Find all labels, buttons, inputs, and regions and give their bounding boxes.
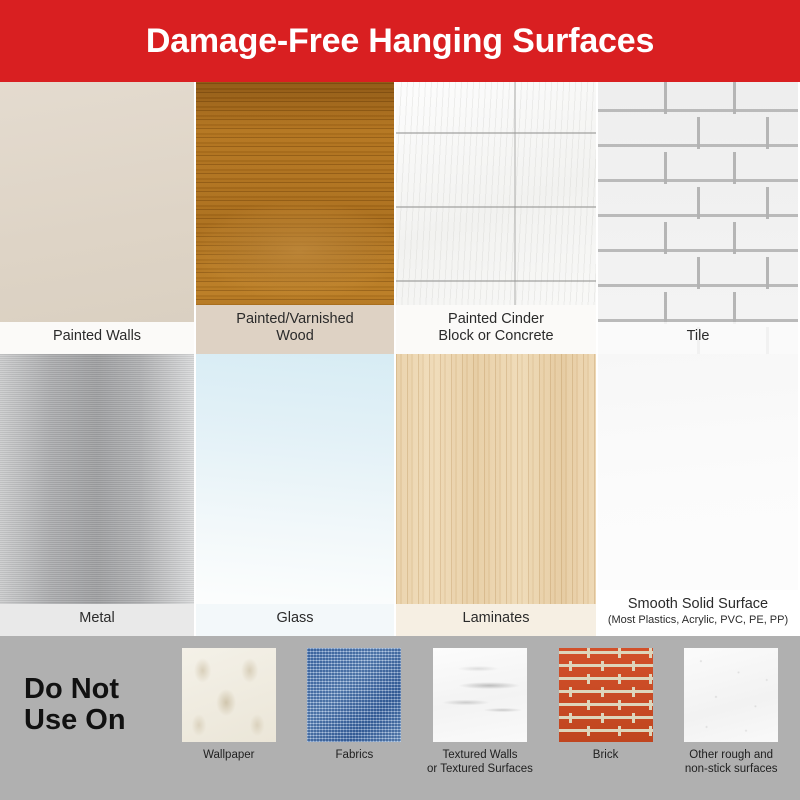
surface-label-glass: Glass xyxy=(196,604,394,636)
brick-label-line-1: Brick xyxy=(593,749,619,761)
do-not-use-label-textured-walls: Textured Walls or Textured Surfaces xyxy=(427,748,533,777)
textured-label-line-1: Textured Walls xyxy=(442,749,517,761)
red-brick-wall-swatch xyxy=(559,648,653,742)
header-banner: Damage-Free Hanging Surfaces xyxy=(0,0,800,82)
wallpaper-damask-swatch xyxy=(182,648,276,742)
surface-label-metal: Metal xyxy=(0,604,194,636)
do-not-use-label-brick: Brick xyxy=(593,748,619,762)
brick-row xyxy=(559,700,653,710)
rough-stipple-surface-swatch xyxy=(684,648,778,742)
do-not-use-item-fabrics[interactable]: Fabrics xyxy=(292,648,418,762)
do-not-use-heading-line-1: Do Not xyxy=(24,673,119,705)
tile-row xyxy=(598,257,798,289)
surface-cell-glass[interactable]: Glass xyxy=(196,354,396,636)
glass-texture xyxy=(196,354,394,636)
surface-cell-metal[interactable]: Metal xyxy=(0,354,196,636)
rough-label-line-2: non-stick surfaces xyxy=(685,763,778,775)
do-not-use-band: Do Not Use On Wallpaper Fabrics Textured… xyxy=(0,636,800,800)
tile-row xyxy=(598,222,798,254)
brick-row xyxy=(559,661,653,671)
subway-tile-texture xyxy=(598,82,798,354)
brick-row xyxy=(559,687,653,697)
tile-row xyxy=(598,187,798,219)
brushed-metal-texture xyxy=(0,354,194,636)
do-not-use-item-brick[interactable]: Brick xyxy=(543,648,669,762)
surface-cell-tile[interactable]: Tile xyxy=(598,82,798,354)
brick-row xyxy=(559,648,653,658)
do-not-use-label-other-rough: Other rough and non-stick surfaces xyxy=(685,748,778,777)
fabrics-label-line-1: Fabrics xyxy=(336,749,374,761)
wood-label-line-2: Wood xyxy=(276,328,314,344)
smooth-label-subtitle: (Most Plastics, Acrylic, PVC, PE, PP) xyxy=(602,614,794,628)
painted-wall-texture xyxy=(0,82,194,354)
do-not-use-item-wallpaper[interactable]: Wallpaper xyxy=(166,648,292,762)
do-not-use-item-other-rough[interactable]: Other rough and non-stick surfaces xyxy=(668,648,794,777)
do-not-use-label-wallpaper: Wallpaper xyxy=(203,748,254,762)
surface-label-tile: Tile xyxy=(598,322,798,354)
surfaces-row-1: Painted Walls Painted/Varnished Wood Pai… xyxy=(0,82,800,354)
do-not-use-label-fabrics: Fabrics xyxy=(336,748,374,762)
surface-label-painted-walls: Painted Walls xyxy=(0,322,194,354)
wood-label-line-1: Painted/Varnished xyxy=(236,311,353,327)
surface-label-laminates: Laminates xyxy=(396,604,596,636)
approved-surfaces-grid: Painted Walls Painted/Varnished Wood Pai… xyxy=(0,82,800,636)
smooth-label-main: Smooth Solid Surface xyxy=(628,596,768,612)
surface-cell-laminates[interactable]: Laminates xyxy=(396,354,598,636)
surfaces-row-2: Metal Glass Laminates Smooth Solid Surfa… xyxy=(0,354,800,636)
rough-label-line-1: Other rough and xyxy=(689,749,773,761)
tile-row xyxy=(598,292,798,324)
cinder-label-line-2: Block or Concrete xyxy=(438,328,553,344)
do-not-use-heading: Do Not Use On xyxy=(24,674,164,737)
wallpaper-label-line-1: Wallpaper xyxy=(203,749,254,761)
surface-cell-painted-varnished-wood[interactable]: Painted/Varnished Wood xyxy=(196,82,396,354)
do-not-use-item-textured-walls[interactable]: Textured Walls or Textured Surfaces xyxy=(417,648,543,777)
brick-row xyxy=(559,713,653,723)
do-not-use-items: Wallpaper Fabrics Textured Walls or Text… xyxy=(166,636,794,800)
page-title: Damage-Free Hanging Surfaces xyxy=(146,24,654,58)
surface-cell-smooth-solid-surface[interactable]: Smooth Solid Surface (Most Plastics, Acr… xyxy=(598,354,798,636)
tile-row xyxy=(598,82,798,114)
surface-cell-painted-walls[interactable]: Painted Walls xyxy=(0,82,196,354)
surface-label-smooth-solid-surface: Smooth Solid Surface (Most Plastics, Acr… xyxy=(598,590,798,636)
light-laminate-wood-texture xyxy=(396,354,596,636)
do-not-use-heading-line-2: Use On xyxy=(24,704,126,736)
brick-row xyxy=(559,726,653,736)
surface-cell-painted-cinder-block[interactable]: Painted Cinder Block or Concrete xyxy=(396,82,598,354)
cinder-label-line-1: Painted Cinder xyxy=(448,311,544,327)
surface-label-painted-varnished-wood: Painted/Varnished Wood xyxy=(196,305,394,354)
tile-row xyxy=(598,152,798,184)
surface-label-painted-cinder-block: Painted Cinder Block or Concrete xyxy=(396,305,596,354)
textured-label-line-2: or Textured Surfaces xyxy=(427,763,533,775)
tile-row xyxy=(598,117,798,149)
infographic-page: Damage-Free Hanging Surfaces Painted Wal… xyxy=(0,0,800,800)
blue-woven-fabric-swatch xyxy=(307,648,401,742)
brick-row xyxy=(559,674,653,684)
textured-plaster-wall-swatch xyxy=(433,648,527,742)
